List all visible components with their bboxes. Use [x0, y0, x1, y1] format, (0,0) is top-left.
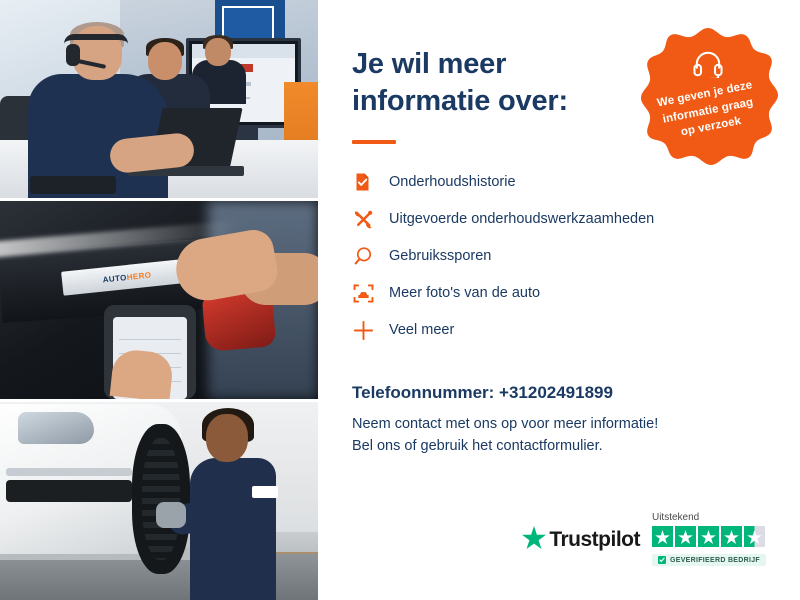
feature-item-gebruikssporen: Gebruikssporen: [352, 238, 766, 275]
star-filled: [698, 526, 719, 547]
trustpilot-logo: Trustpilot: [522, 526, 640, 566]
verified-label: GEVERIFIEERD BEDRIJF: [670, 557, 760, 564]
magnifier-icon: [352, 245, 374, 267]
verified-badge: GEVERIFIEERD BEDRIJF: [652, 554, 766, 566]
tools-icon: [352, 208, 374, 230]
headline-line-2: informatie over:: [352, 85, 568, 117]
trustpilot-rating: Uitstekend: [652, 512, 766, 566]
photo-column: AUTOHERO: [0, 0, 318, 600]
star-filled: [652, 526, 673, 547]
headset-icon: [693, 50, 723, 83]
content-panel: Je wil meer informatie over: Onderhoudsh…: [318, 0, 800, 600]
photo-inspection-ruler: AUTOHERO: [0, 201, 318, 399]
feature-label: Uitgevoerde onderhoudswerkzaamheden: [389, 211, 654, 227]
document-check-icon: [352, 171, 374, 193]
star-filled: [721, 526, 742, 547]
trustpilot-star-icon: [522, 526, 546, 554]
trustpilot-brand: Trustpilot: [549, 528, 640, 552]
star-rating: [652, 526, 765, 547]
feature-label: Veel meer: [389, 322, 454, 338]
feature-label: Onderhoudshistorie: [389, 174, 516, 190]
title-divider: [352, 140, 396, 144]
callout-badge: We geven je deze informatie graag op ver…: [634, 26, 782, 174]
rating-label: Uitstekend: [652, 512, 699, 523]
photo-call-center: [0, 0, 318, 198]
verified-check-icon: [658, 556, 666, 564]
headline-line-1: Je wil meer: [352, 48, 506, 80]
trustpilot-block[interactable]: Trustpilot Uitstekend: [522, 512, 766, 566]
feature-label: Meer foto's van de auto: [389, 285, 540, 301]
car-scan-icon: [352, 282, 374, 304]
star-filled: [675, 526, 696, 547]
feature-item-meer-fotos: Meer foto's van de auto: [352, 275, 766, 312]
feature-label: Gebruikssporen: [389, 248, 491, 264]
feature-item-veel-meer: Veel meer: [352, 312, 766, 349]
feature-item-onderhoudswerkzaamheden: Uitgevoerde onderhoudswerkzaamheden: [352, 201, 766, 238]
plus-icon: [352, 319, 374, 341]
contact-line-2: Bel ons of gebruik het contactformulier.: [352, 438, 603, 454]
phone-number[interactable]: Telefoonnummer: +31202491899: [352, 383, 766, 403]
promo-banner: AUTOHERO Je wil meer informatie over:: [0, 0, 800, 600]
feature-list: Onderhoudshistorie Uitgevoerde onderhoud…: [352, 164, 766, 349]
photo-mechanic-lift: [0, 402, 318, 600]
contact-line-1: Neem contact met ons op voor meer inform…: [352, 416, 658, 432]
contact-text: Neem contact met ons op voor meer inform…: [352, 413, 766, 458]
star-half: [744, 526, 765, 547]
